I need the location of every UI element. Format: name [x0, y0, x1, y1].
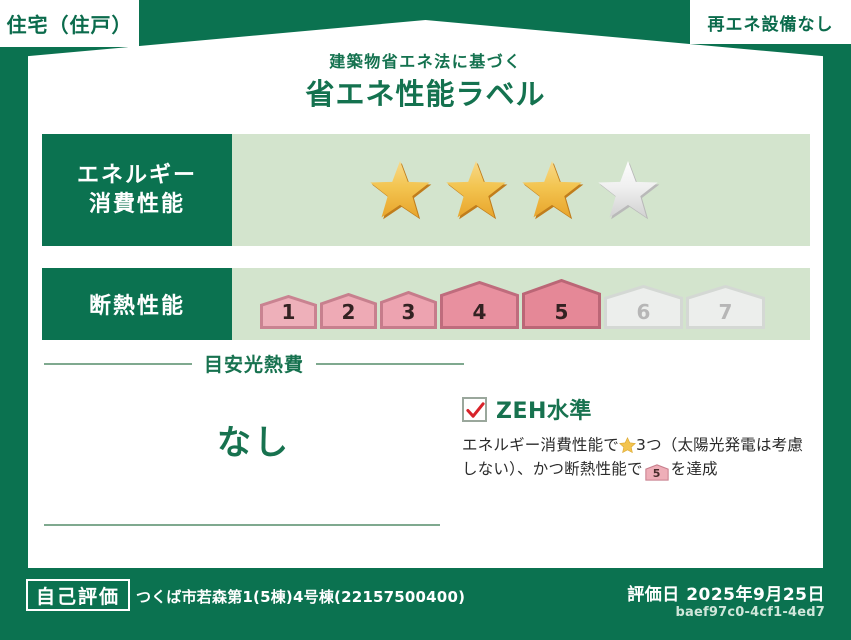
title-subtitle: 建築物省エネ法に基づく	[0, 52, 851, 71]
utility-cost-heading-text: 目安光熱費	[204, 350, 304, 377]
building-name: つくば市若森第1(5棟)4号棟(22157500400)	[136, 586, 465, 607]
self-evaluation-badge: 自己評価	[26, 579, 130, 611]
building-type-tag: 住宅（住戸）	[0, 0, 139, 47]
zeh-desc-part4: を達成	[671, 460, 718, 478]
insulation-grade-7: 7	[686, 285, 765, 329]
heading-rule-right	[316, 363, 464, 365]
insulation-grade-scale: 1234567	[260, 279, 765, 329]
grade-label: 1	[282, 300, 296, 324]
star-rating	[367, 158, 661, 222]
grade-label: 7	[719, 300, 733, 324]
inline-grade-badge: 5	[645, 464, 669, 481]
star-icon-filled	[519, 158, 585, 222]
check-icon	[466, 401, 485, 420]
zeh-checkbox[interactable]	[462, 397, 487, 422]
insulation-grade-4: 4	[440, 281, 519, 329]
star-icon-filled	[443, 158, 509, 222]
zeh-title: ZEH水準	[496, 393, 592, 425]
insulation-grade-2: 2	[320, 293, 377, 329]
title-block: 建築物省エネ法に基づく 省エネ性能ラベル	[0, 52, 851, 112]
utility-cost-heading: 目安光熱費	[44, 350, 464, 377]
energy-label-card: 住宅（住戸） 再エネ設備なし 建築物省エネ法に基づく 省エネ性能ラベル エネルギ…	[0, 0, 851, 640]
zeh-desc-part1: エネルギー消費性能で	[462, 436, 619, 454]
utility-cost-bottom-rule	[44, 524, 440, 526]
energy-performance-row: エネルギー 消費性能	[42, 134, 810, 246]
insulation-grade-1: 1	[260, 295, 317, 329]
grade-label: 4	[473, 300, 487, 324]
energy-label-line2: 消費性能	[89, 190, 185, 219]
star-icon-empty	[595, 158, 661, 222]
evaluation-date-value: 2025年9月25日	[686, 585, 825, 605]
energy-performance-body	[232, 134, 810, 246]
insulation-performance-label: 断熱性能	[42, 268, 232, 340]
grade-label: 3	[402, 300, 416, 324]
energy-performance-label: エネルギー 消費性能	[42, 134, 232, 246]
heading-rule-left	[44, 363, 192, 365]
grade-label: 2	[342, 300, 356, 324]
zeh-description: エネルギー消費性能で 3つ（太陽光発電は考慮しない）、かつ断熱性能で 5を達成	[462, 434, 810, 481]
page-title: 省エネ性能ラベル	[0, 77, 851, 112]
grade-label: 6	[637, 300, 651, 324]
insulation-grade-6: 6	[604, 285, 683, 329]
document-hash: baef97c0-4cf1-4ed7	[676, 605, 825, 620]
zeh-desc-part2: 3つ（太陽光発電	[636, 436, 756, 454]
insulation-grade-3: 3	[380, 291, 437, 329]
zeh-standard-block: ZEH水準 エネルギー消費性能で 3つ（太陽光発電は考慮しない）、かつ断熱性能で…	[462, 393, 810, 481]
renewable-equipment-tag: 再エネ設備なし	[690, 0, 851, 44]
energy-label-line1: エネルギー	[77, 161, 197, 190]
utility-cost-value: なし	[44, 415, 464, 464]
label-footer: 自己評価 つくば市若森第1(5棟)4号棟(22157500400) 評価日 20…	[0, 568, 851, 640]
inline-grade-value: 5	[645, 464, 669, 483]
star-icon-filled	[367, 158, 433, 222]
zeh-heading: ZEH水準	[462, 393, 810, 425]
insulation-performance-body: 1234567	[232, 268, 810, 340]
insulation-performance-row: 断熱性能 1234567	[42, 268, 810, 340]
inline-star-icon	[619, 437, 636, 454]
evaluation-date-label: 評価日	[627, 585, 680, 605]
evaluation-date: 評価日 2025年9月25日	[627, 580, 825, 605]
insulation-grade-5: 5	[522, 279, 601, 329]
grade-label: 5	[555, 300, 569, 324]
